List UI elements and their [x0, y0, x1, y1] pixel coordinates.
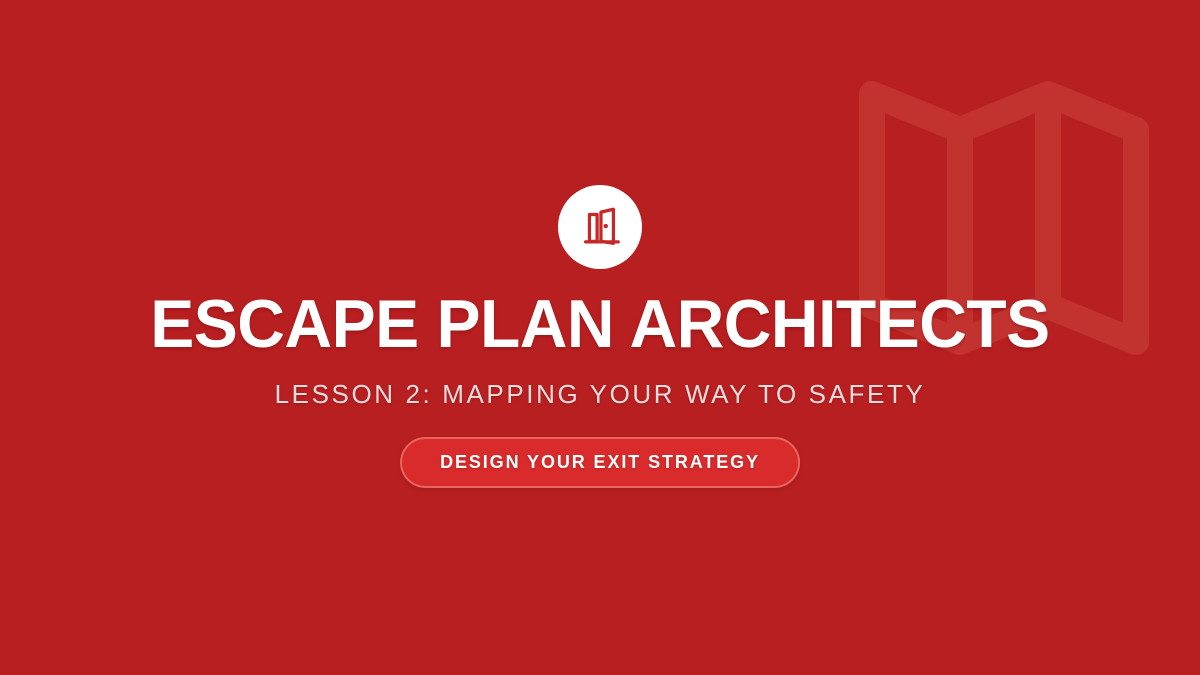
slide-content: ESCAPE PLAN ARCHITECTS LESSON 2: MAPPING… [0, 0, 1200, 675]
cta-button-label: DESIGN YOUR EXIT STRATEGY [440, 452, 760, 473]
lesson-subtitle: LESSON 2: MAPPING YOUR WAY TO SAFETY [0, 378, 1200, 410]
cta-button[interactable]: DESIGN YOUR EXIT STRATEGY [400, 437, 800, 488]
page-title: ESCAPE PLAN ARCHITECTS [18, 288, 1182, 360]
door-knob-icon [604, 224, 608, 228]
open-door-icon [577, 204, 623, 250]
icon-badge [558, 185, 642, 269]
